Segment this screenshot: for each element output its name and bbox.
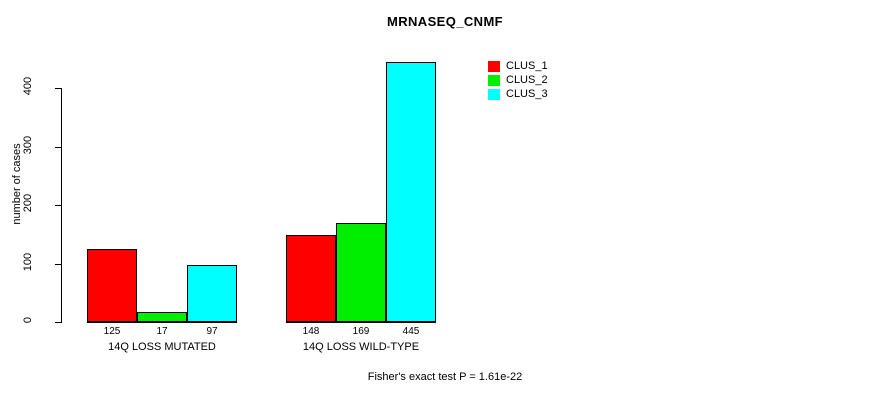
group-baseline — [87, 322, 237, 323]
bar-clus-3-group1[interactable] — [187, 265, 237, 322]
bar-value-label: 17 — [137, 326, 187, 337]
bar-value-label: 148 — [286, 326, 336, 337]
bar-clus-1-group1[interactable] — [87, 249, 137, 322]
group-label: 14Q LOSS WILD-TYPE — [286, 341, 436, 353]
legend-color-swatch-icon — [488, 89, 500, 100]
bar-value-label: 445 — [386, 326, 436, 337]
bar-clus-3-group2[interactable] — [386, 62, 436, 322]
statistical-test-annotation: Fisher's exact test P = 1.61e-22 — [0, 371, 890, 383]
group-baseline — [286, 322, 436, 323]
bar-clus-2-group2[interactable] — [336, 223, 386, 322]
legend-label: CLUS_2 — [506, 74, 548, 86]
plot-area: 125179714Q LOSS MUTATED14816944514Q LOSS… — [0, 0, 890, 400]
legend-label: CLUS_1 — [506, 60, 548, 72]
bar-chart: MRNASEQ_CNMF number of cases 40030020010… — [0, 0, 890, 400]
bar-clus-2-group1[interactable] — [137, 312, 187, 322]
bar-value-label: 125 — [87, 326, 137, 337]
bar-value-label: 169 — [336, 326, 386, 337]
bar-value-label: 97 — [187, 326, 237, 337]
legend-color-swatch-icon — [488, 61, 500, 72]
bar-clus-1-group2[interactable] — [286, 235, 336, 322]
legend-color-swatch-icon — [488, 75, 500, 86]
group-label: 14Q LOSS MUTATED — [87, 341, 237, 353]
legend-label: CLUS_3 — [506, 88, 548, 100]
